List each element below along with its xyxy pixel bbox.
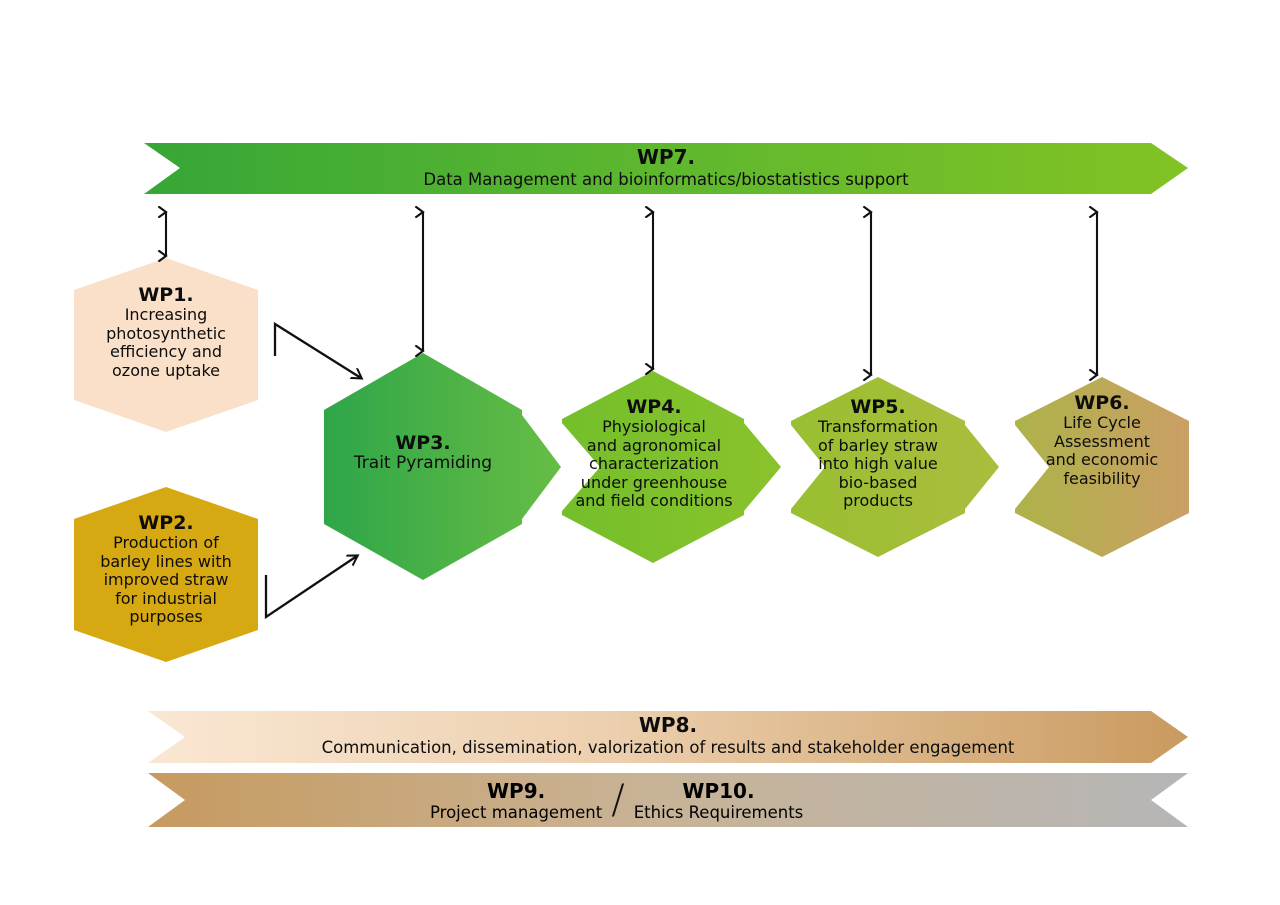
wp3-shape[interactable] bbox=[324, 353, 561, 580]
wp1-shape[interactable] bbox=[74, 258, 258, 432]
wp10-code: WP10. bbox=[634, 779, 804, 803]
wp8-desc: Communication, dissemination, valorizati… bbox=[185, 738, 1151, 757]
wp9-wp10-separator: / bbox=[602, 780, 633, 822]
arrow-wp1-wp3 bbox=[275, 324, 361, 378]
wp8-code: WP8. bbox=[185, 714, 1151, 738]
wp9-desc: Project management bbox=[430, 803, 602, 822]
wp9-label: WP9. Project management bbox=[430, 779, 602, 822]
wp7-code: WP7. bbox=[180, 146, 1152, 170]
arrow-wp2-wp3 bbox=[266, 556, 357, 617]
diagram-shapes bbox=[0, 0, 1280, 905]
wp7-connector-arrows bbox=[166, 212, 1097, 375]
wp5-shape[interactable] bbox=[791, 377, 999, 557]
wp10-label: WP10. Ethics Requirements bbox=[634, 779, 804, 822]
wp9-wp10-label-group: WP9. Project management / WP10. Ethics R… bbox=[430, 779, 803, 822]
wp8-label: WP8. Communication, dissemination, valor… bbox=[185, 714, 1151, 757]
wp6-shape[interactable] bbox=[1015, 377, 1189, 557]
wp2-shape[interactable] bbox=[74, 487, 258, 662]
wp7-label: WP7. Data Management and bioinformatics/… bbox=[180, 146, 1152, 189]
wp4-shape[interactable] bbox=[562, 371, 781, 563]
diagram-canvas: WP7. Data Management and bioinformatics/… bbox=[0, 0, 1280, 905]
wp10-desc: Ethics Requirements bbox=[634, 803, 804, 822]
wp7-desc: Data Management and bioinformatics/biost… bbox=[180, 170, 1152, 189]
wp9-code: WP9. bbox=[430, 779, 602, 803]
